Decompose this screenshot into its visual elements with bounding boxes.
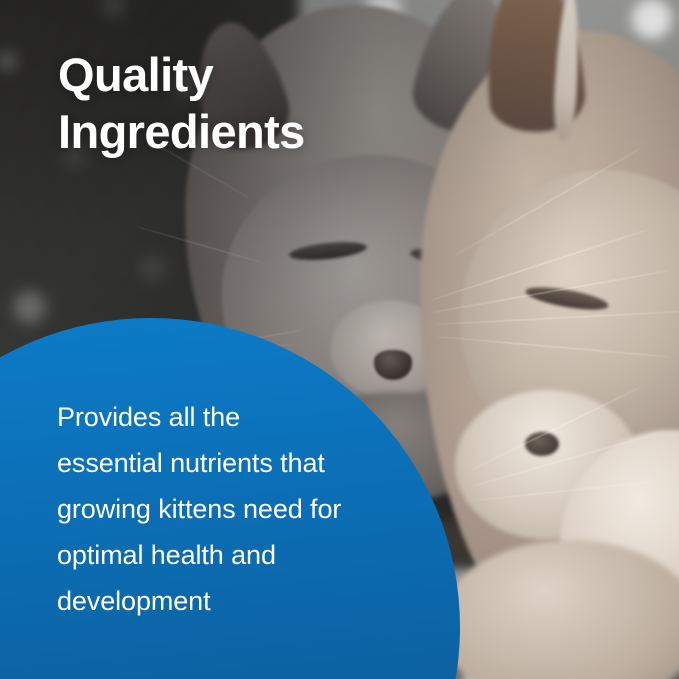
whisker (436, 336, 671, 358)
whisker (472, 431, 665, 487)
page-title: Quality Ingredients (58, 46, 458, 161)
feature-description: Provides all the essential nutrients tha… (57, 394, 437, 624)
whisker (470, 387, 641, 471)
whisker (137, 226, 262, 263)
whisker (474, 481, 653, 501)
whisker (434, 311, 679, 325)
whisker (432, 270, 669, 313)
whisker (430, 229, 649, 301)
product-feature-card: Quality Ingredients Provides all the ess… (0, 0, 679, 679)
